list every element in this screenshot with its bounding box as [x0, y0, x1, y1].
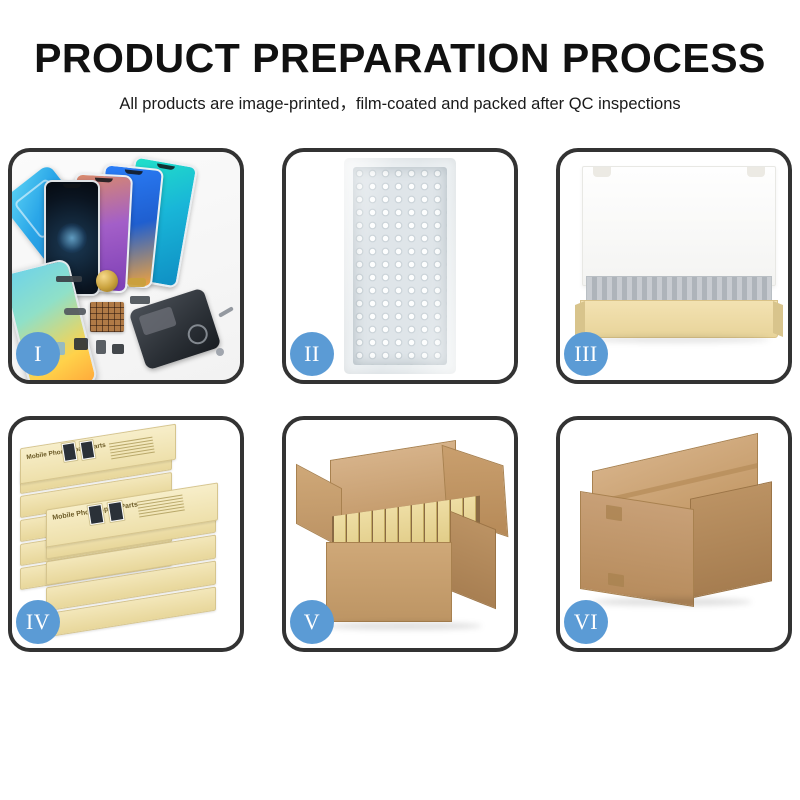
- drop-shadow: [326, 622, 482, 630]
- sealed-carton: [578, 452, 774, 620]
- camera-module-part: [74, 338, 88, 350]
- step-panel-1[interactable]: I: [8, 148, 244, 384]
- gold-contact-part: [128, 278, 146, 287]
- screen-thumbnail: [61, 441, 79, 463]
- step-panel-3[interactable]: III: [556, 148, 792, 384]
- box-lid: [582, 166, 776, 286]
- flex-cable-part: [130, 296, 150, 304]
- page-title: PRODUCT PREPARATION PROCESS: [0, 38, 800, 79]
- step-panel-2[interactable]: II: [282, 148, 518, 384]
- step-badge-2: II: [290, 332, 334, 376]
- bubble-wrap-sleeve: [344, 158, 456, 374]
- drop-shadow: [592, 598, 752, 606]
- process-row-bottom: Mobile Phone Spare Parts Mobile Phone Sp…: [8, 416, 792, 652]
- step-badge-3: III: [564, 332, 608, 376]
- carton-handle-tab: [606, 505, 622, 522]
- product-preparation-infographic: PRODUCT PREPARATION PROCESS All products…: [0, 0, 800, 800]
- tweezers-icon: [218, 306, 234, 317]
- screw-part: [216, 348, 224, 356]
- step-badge-4: IV: [16, 600, 60, 644]
- small-component-part: [112, 344, 124, 354]
- step-badge-1: I: [16, 332, 60, 376]
- header: PRODUCT PREPARATION PROCESS All products…: [0, 0, 800, 113]
- process-grid: I II III: [8, 148, 792, 684]
- step-panel-6[interactable]: VI: [556, 416, 792, 652]
- step-panel-4[interactable]: Mobile Phone Spare Parts Mobile Phone Sp…: [8, 416, 244, 652]
- carton-side: [690, 481, 772, 598]
- open-carton: [300, 454, 500, 624]
- box-base: [580, 300, 778, 338]
- screen-thumbnail: [86, 503, 105, 526]
- carton-front: [580, 491, 694, 607]
- carton-front: [326, 542, 452, 622]
- speaker-coil-icon: [96, 270, 118, 292]
- battery-part: [96, 340, 106, 354]
- connector-part: [64, 308, 86, 315]
- notch-icon: [63, 184, 81, 188]
- process-row-top: I II III: [8, 148, 792, 384]
- page-subtitle: All products are image-printed，film-coat…: [0, 96, 800, 113]
- step-badge-5: V: [290, 600, 334, 644]
- notch-icon: [124, 169, 142, 175]
- flex-cable-part: [56, 276, 82, 282]
- chip-grid-icon: [90, 302, 124, 332]
- screen-thumbnail: [79, 439, 97, 461]
- drop-shadow: [586, 336, 770, 343]
- plastic-sheen: [344, 158, 456, 374]
- carton-handle-tab: [608, 573, 624, 588]
- step-badge-6: VI: [564, 600, 608, 644]
- screen-thumbnail: [106, 500, 125, 523]
- step-panel-5[interactable]: V: [282, 416, 518, 652]
